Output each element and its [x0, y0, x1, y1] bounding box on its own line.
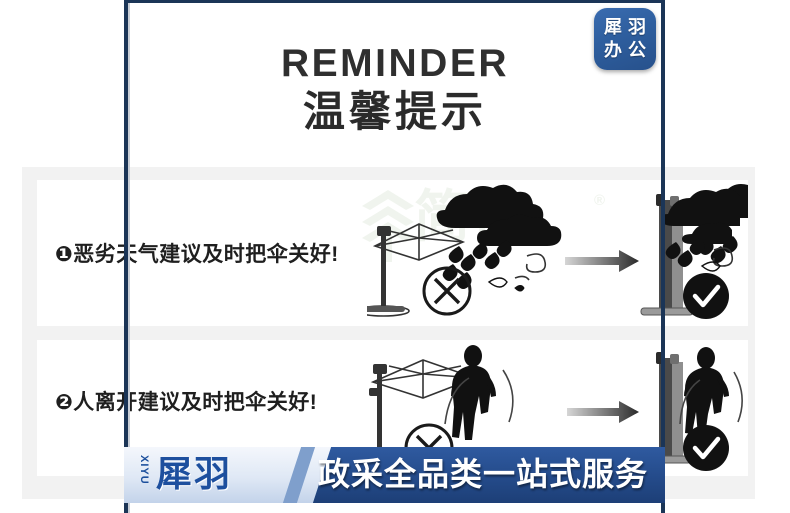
page-title-en: REMINDER: [0, 44, 790, 83]
header: REMINDER 温馨提示: [0, 0, 790, 160]
window-frame-top: [124, 0, 665, 3]
bottom-banner: XIYU 犀羽 政采全品类一站式服务: [124, 447, 665, 503]
banner-slogan: 政采全品类一站式服务: [318, 455, 648, 494]
logo-char-1: 犀: [604, 19, 622, 37]
poster-canvas: REMINDER 温馨提示 犀 羽 办 公 简忆 ® ❶恶劣天气建议及时把伞关好…: [0, 0, 790, 513]
reminder-text-1: ❶恶劣天气建议及时把伞关好!: [55, 238, 339, 268]
window-frame-inner-left: [128, 3, 130, 513]
page-title-cn: 温馨提示: [0, 88, 790, 136]
illustration-row-2-right: [662, 340, 748, 476]
person-walking-icon: [451, 345, 496, 440]
window-frame-right: [661, 0, 665, 513]
reminder-row-1: ❶恶劣天气建议及时把伞关好!: [37, 180, 748, 326]
leaf-icon: [489, 278, 524, 291]
arrow-right-icon: [565, 250, 639, 272]
leaf-icon: [702, 262, 720, 271]
banner-brand-cn: 犀羽: [156, 452, 232, 495]
brand-logo-chars: 犀 羽 办 公: [601, 16, 649, 62]
logo-char-4: 公: [628, 42, 646, 60]
logo-char-2: 羽: [628, 19, 646, 37]
illustration-row-1-right: [662, 180, 748, 326]
check-circle-icon: [683, 425, 729, 471]
logo-char-3: 办: [604, 42, 622, 60]
arrow-right-icon: [567, 401, 639, 423]
brand-logo-badge: 犀 羽 办 公: [594, 8, 656, 70]
reminder-text-2: ❷人离开建议及时把伞关好!: [55, 386, 317, 416]
check-circle-icon: [683, 273, 729, 319]
storm-cloud-icon: [662, 189, 740, 244]
wind-swirl-icon: [515, 254, 545, 280]
person-walking-icon: [684, 347, 729, 436]
raindrops-icon: [443, 240, 512, 289]
window-frame-left: [124, 0, 128, 513]
banner-brand-latin: XIYU: [138, 455, 149, 495]
storm-cloud-icon: [437, 185, 562, 246]
